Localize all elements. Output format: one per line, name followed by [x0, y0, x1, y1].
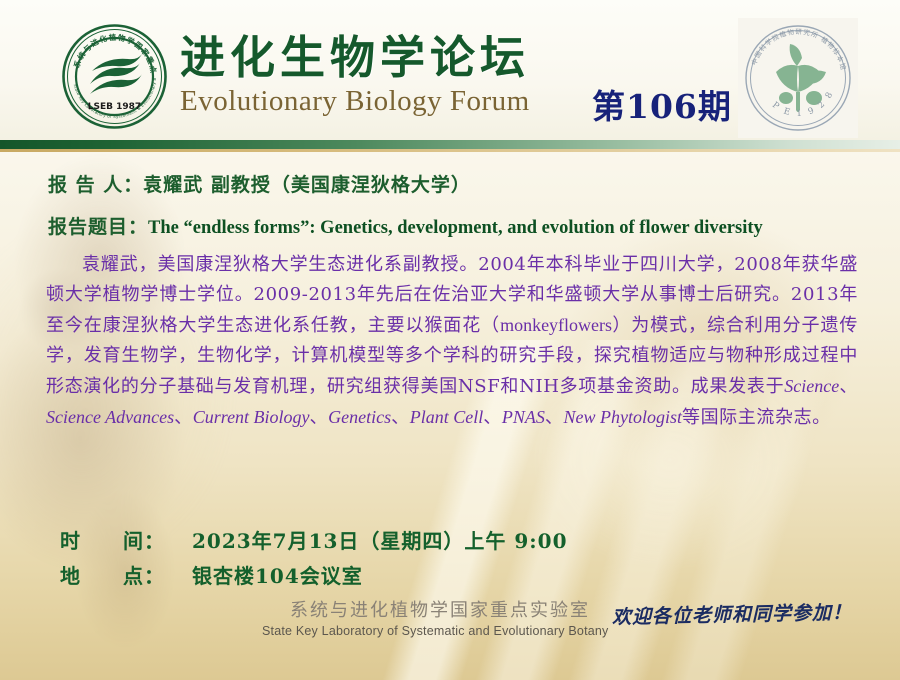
speaker-name: 袁耀武 副教授 — [143, 174, 271, 196]
journal-name: Science Advances — [46, 407, 174, 427]
speaker-affiliation: （美国康涅狄格大学） — [271, 174, 471, 196]
speaker-line: 报 告 人：袁耀武 副教授（美国康涅狄格大学） — [48, 170, 471, 197]
forum-title-en: Evolutionary Biology Forum — [180, 85, 560, 118]
lseb-seal-icon: 系统与进化植物学国家重点实验室 State Key Laboratory of … — [62, 24, 167, 129]
place-value: 银杏楼104会议室 — [192, 564, 363, 588]
header-divider-green — [0, 140, 900, 149]
bio-latin-term: monkeyflowers — [500, 315, 612, 335]
issue-number: 第106期 — [592, 80, 732, 128]
journal-separator: 、 — [310, 407, 329, 428]
footer-lab-cn: 系统与进化植物学国家重点实验室 — [290, 596, 590, 622]
header-divider-gold — [0, 149, 900, 152]
place-label: 地 点： — [60, 560, 192, 589]
journal-name: New Phytologist — [563, 407, 682, 427]
svg-text:LSEB 1987: LSEB 1987 — [88, 102, 141, 112]
topic-title-italic: The “endless forms” — [148, 218, 309, 238]
event-place-row: 地 点：银杏楼104会议室 — [60, 560, 363, 589]
footer-lab-en: State Key Laboratory of Systematic and E… — [262, 624, 609, 638]
topic-title-rest: : Genetics, development, and evolution o… — [309, 218, 762, 238]
topic-line: 报告题目：The “endless forms”: Genetics, deve… — [48, 212, 763, 239]
journal-name: Genetics — [328, 407, 391, 427]
forum-title-block: 进化生物学论坛 Evolutionary Biology Forum — [180, 34, 560, 118]
topic-label: 报告题目： — [48, 216, 148, 238]
journal-separator: 、 — [839, 376, 858, 397]
journal-separator: 、 — [545, 407, 564, 428]
time-label: 时 间： — [60, 525, 192, 554]
time-value: 2023年7月13日（星期四）上午 9:00 — [192, 529, 568, 553]
speaker-label: 报 告 人： — [48, 174, 143, 196]
journal-separator: 、 — [483, 407, 502, 428]
journal-separator: 、 — [391, 407, 410, 428]
welcome-note: 欢迎各位老师和同学参加！ — [612, 597, 853, 629]
forum-title-cn: 进化生物学论坛 — [180, 34, 560, 81]
journal-name: Science — [784, 376, 839, 396]
journal-name: Current Biology — [193, 407, 310, 427]
seminar-poster: 系统与进化植物学国家重点实验室 State Key Laboratory of … — [0, 0, 900, 680]
event-time-row: 时 间：2023年7月13日（星期四）上午 9:00 — [60, 525, 568, 554]
journal-separator: 、 — [174, 407, 193, 428]
ginkgo-herbarium-seal-icon: 中国科学院植物研究所 植物标本馆 P E 1 9 2 8 — [738, 18, 858, 138]
journal-name: PNAS — [502, 407, 545, 427]
poster-header: 系统与进化植物学国家重点实验室 State Key Laboratory of … — [0, 0, 900, 140]
bio-part-3: 等国际主流杂志。 — [682, 407, 831, 428]
journal-name: Plant Cell — [410, 407, 484, 427]
speaker-bio: 袁耀武，美国康涅狄格大学生态进化系副教授。2004年本科毕业于四川大学，2008… — [46, 250, 858, 433]
